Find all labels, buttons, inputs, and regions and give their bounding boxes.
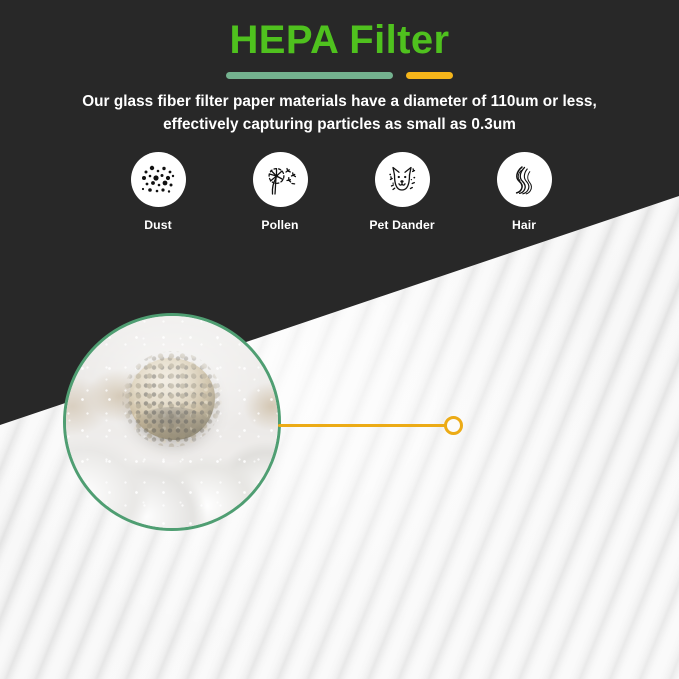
product-feature-banner: HEPA Filter Our glass fiber filter paper… xyxy=(0,0,679,679)
page-subtitle: Our glass fiber filter paper materials h… xyxy=(70,90,610,137)
feature-label: Pet Dander xyxy=(369,218,434,232)
divider-bar-green xyxy=(226,72,393,79)
title-divider xyxy=(0,72,679,79)
feature-item-hair: Hair xyxy=(472,152,576,232)
callout-leader-line xyxy=(278,424,448,427)
magnifier-inset xyxy=(63,313,281,531)
dog-face-dander-icon xyxy=(375,152,430,207)
feature-label: Hair xyxy=(512,218,536,232)
feature-label: Pollen xyxy=(261,218,298,232)
divider-bar-yellow xyxy=(406,72,453,79)
magnified-dust-particle-scene xyxy=(66,316,278,528)
dust-particles-icon xyxy=(131,152,186,207)
dandelion-pollen-icon xyxy=(253,152,308,207)
feature-icon-row: Dust xyxy=(106,152,576,232)
hair-strands-icon xyxy=(497,152,552,207)
feature-item-pollen: Pollen xyxy=(228,152,332,232)
feature-item-dust: Dust xyxy=(106,152,210,232)
dust-particle-cluster xyxy=(129,358,215,440)
callout-endpoint-circle xyxy=(444,416,463,435)
page-title: HEPA Filter xyxy=(0,17,679,64)
feature-label: Dust xyxy=(144,218,171,232)
feature-item-pet-dander: Pet Dander xyxy=(350,152,454,232)
